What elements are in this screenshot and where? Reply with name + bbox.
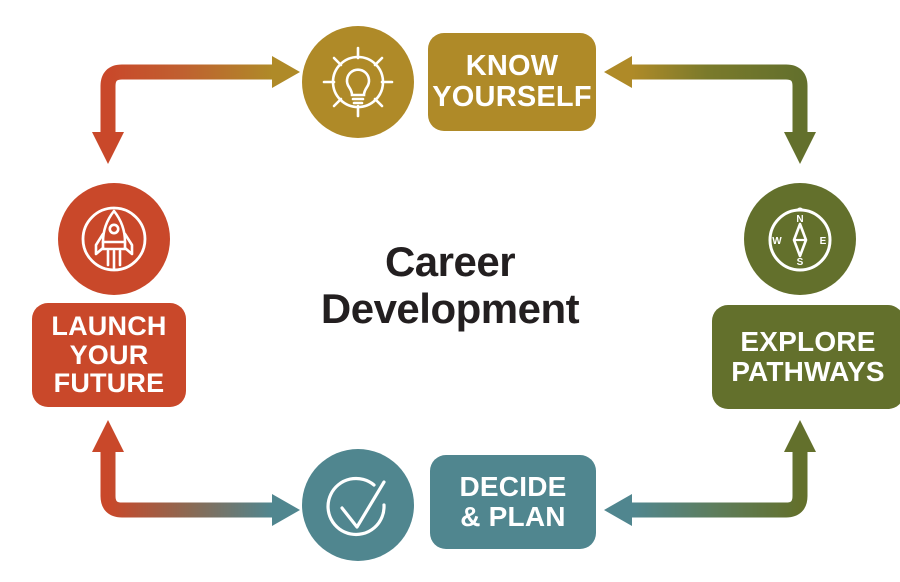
- lightbulb-icon: [319, 43, 397, 121]
- compass-north-label: N: [796, 214, 803, 225]
- compass-west-label: W: [772, 236, 782, 247]
- stage-icon-decide-and-plan[interactable]: [302, 449, 414, 561]
- compass-south-label: S: [797, 257, 804, 268]
- stage-icon-launch-your-future[interactable]: [58, 183, 170, 295]
- connector-bottom-left: [92, 420, 300, 526]
- connector-top-right: [604, 56, 816, 164]
- career-development-cycle-diagram: KNOW YOURSELF N E S W EXPLORE PATHWAYS D…: [0, 0, 900, 582]
- stage-label-explore-pathways[interactable]: EXPLORE PATHWAYS: [712, 305, 900, 409]
- stage-label-text: LAUNCH YOUR FUTURE: [51, 312, 166, 398]
- stage-icon-know-yourself[interactable]: [302, 26, 414, 138]
- rocket-icon: [73, 198, 155, 280]
- compass-icon: N E S W: [760, 199, 840, 279]
- checkmark-circle-icon: [318, 465, 398, 545]
- compass-east-label: E: [820, 236, 827, 247]
- stage-icon-explore-pathways[interactable]: N E S W: [744, 183, 856, 295]
- stage-label-text: KNOW YOURSELF: [432, 51, 592, 112]
- connector-top-left: [92, 56, 300, 164]
- stage-label-decide-and-plan[interactable]: DECIDE & PLAN: [430, 455, 596, 549]
- stage-label-know-yourself[interactable]: KNOW YOURSELF: [428, 33, 596, 131]
- stage-label-text: DECIDE & PLAN: [460, 472, 567, 531]
- connector-bottom-right: [604, 420, 816, 526]
- diagram-center-title: Career Development: [260, 238, 640, 332]
- stage-label-text: EXPLORE PATHWAYS: [731, 327, 885, 386]
- stage-label-launch-your-future[interactable]: LAUNCH YOUR FUTURE: [32, 303, 186, 407]
